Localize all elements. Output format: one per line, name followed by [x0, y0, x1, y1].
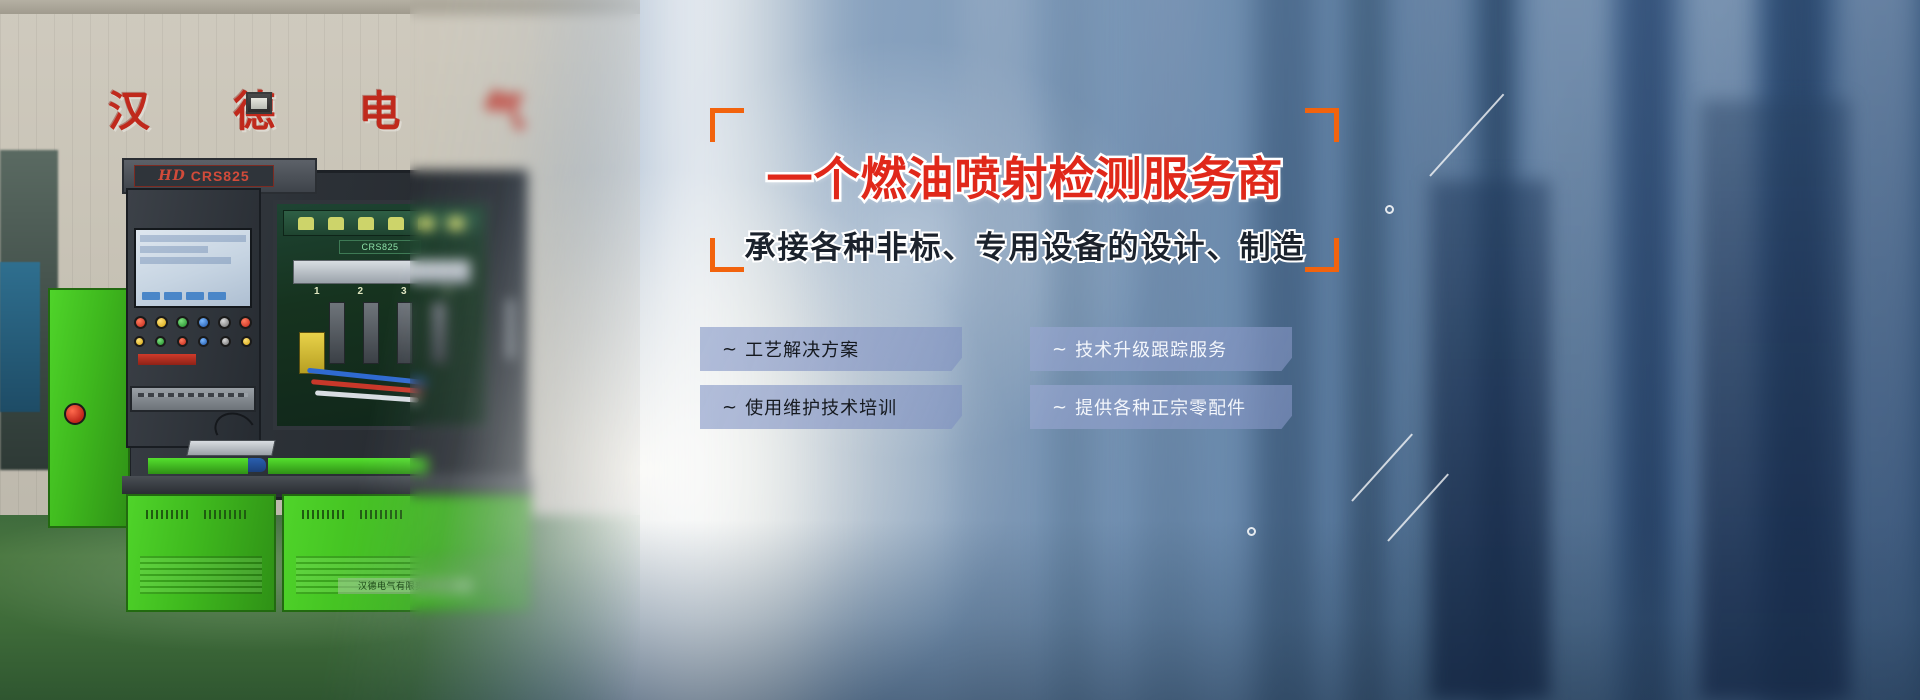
corner-bracket-top-right-icon: [1305, 108, 1339, 142]
decorative-dot-2: [1247, 527, 1256, 536]
tilde-marker-4: ~: [1052, 397, 1068, 418]
decorative-line-2: [1351, 433, 1413, 501]
banner-subheadline: 承接各种非标、专用设备的设计、制造: [700, 222, 1350, 267]
decorative-line-1: [1429, 94, 1504, 177]
feature-chip-label-3: 使用维护技术培训: [745, 394, 897, 420]
tilde-marker-2: ~: [1052, 339, 1068, 360]
feature-chip-training[interactable]: ~ 使用维护技术培训: [700, 385, 962, 429]
banner-content: 一个燃油喷射检测服务商 承接各种非标、专用设备的设计、制造 ~ 工艺解决方案 ~…: [0, 0, 1920, 700]
feature-chip-label-2: 技术升级跟踪服务: [1075, 336, 1227, 362]
feature-chip-genuine-parts[interactable]: ~ 提供各种正宗零配件: [1030, 385, 1292, 429]
corner-bracket-top-left-icon: [710, 108, 744, 142]
tilde-marker-3: ~: [722, 397, 738, 418]
hero-banner: 汉 德 电 气 HD CRS825: [0, 0, 1920, 700]
feature-chip-list: ~ 工艺解决方案 ~ 技术升级跟踪服务 ~ 使用维护技术培训 ~ 提供各种正宗零…: [700, 327, 1320, 429]
feature-chip-process-solution[interactable]: ~ 工艺解决方案: [700, 327, 962, 371]
tilde-marker-1: ~: [722, 339, 738, 360]
banner-headline: 一个燃油喷射检测服务商: [700, 143, 1350, 209]
feature-chip-label-1: 工艺解决方案: [745, 336, 859, 362]
feature-chip-label-4: 提供各种正宗零配件: [1075, 394, 1246, 420]
feature-chip-tech-upgrade[interactable]: ~ 技术升级跟踪服务: [1030, 327, 1292, 371]
decorative-dot-1: [1385, 205, 1394, 214]
decorative-line-3: [1387, 473, 1449, 541]
